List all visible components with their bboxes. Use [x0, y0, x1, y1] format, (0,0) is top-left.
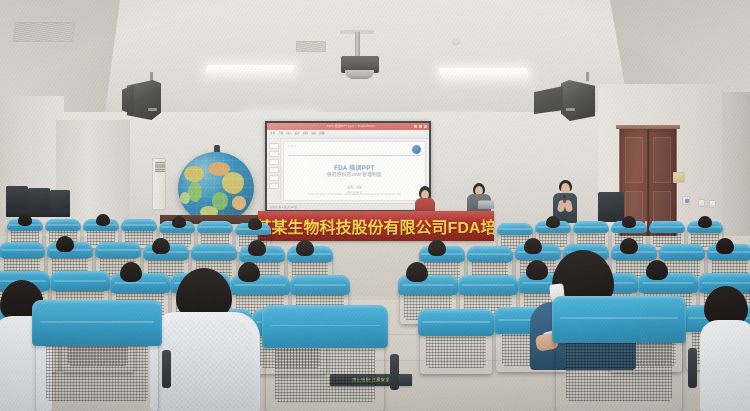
seat-headrest-cover — [0, 242, 45, 258]
hair — [622, 216, 636, 228]
torso — [700, 320, 750, 411]
door-panel — [653, 137, 671, 183]
seat-headrest-cover — [467, 246, 514, 262]
seat-headrest-cover — [552, 296, 686, 343]
seat-headrest-cover — [95, 242, 142, 258]
side-chair — [598, 192, 624, 222]
globe-sphere — [178, 152, 254, 224]
powerpoint-titlebar: FDA 培训PPT.pptx - PowerPoint — [267, 123, 429, 130]
slide-footer: Food and Drug Administration · Drug Mast… — [284, 193, 425, 196]
projector-mount-rod — [355, 32, 360, 58]
conference-room-photo: FDA 培训PPT.pptx - PowerPoint 文件 开始 插入 设计 … — [0, 0, 750, 411]
audience-seat-front — [36, 312, 158, 411]
hair — [296, 240, 314, 256]
ribbon-tab[interactable]: 开始 — [278, 131, 283, 135]
seat-headrest-cover — [290, 275, 349, 295]
hair — [248, 240, 266, 256]
slide-title: FDA 培训PPT — [284, 163, 425, 172]
event-banner: 中国某某生物科技股份有限公司FDA培训会 — [258, 211, 494, 241]
hair — [716, 238, 734, 254]
slide-thumbnail[interactable] — [269, 159, 279, 165]
slide-presenter: 主讲：某某 — [284, 185, 425, 189]
hair — [120, 262, 142, 282]
projection-screen: FDA 培训PPT.pptx - PowerPoint 文件 开始 插入 设计 … — [265, 121, 431, 212]
projector-lens-icon — [345, 70, 374, 79]
speaker-badge — [148, 108, 157, 111]
hair — [406, 262, 428, 282]
slide-thumbnail[interactable] — [269, 167, 279, 173]
wall-speaker-right — [561, 80, 595, 121]
seat-armrest — [688, 348, 697, 388]
slide-thumbnail[interactable] — [269, 151, 279, 157]
laptop-on-table — [478, 200, 495, 208]
speaker-bracket — [150, 72, 153, 81]
seat-headrest-cover — [191, 244, 238, 260]
projected-powerpoint-window: FDA 培训PPT.pptx - PowerPoint 文件 开始 插入 设计 … — [267, 123, 429, 210]
foreground-attendee-right-edge — [700, 286, 750, 411]
control-panel-grill-icon — [155, 162, 165, 172]
seat-headrest-cover — [32, 300, 161, 346]
smoke-detector-icon — [452, 39, 460, 44]
slide-canvas: F D A FDA 培训PPT 兽药原料药DMF管理制度 主讲：某某 2023 … — [283, 141, 426, 201]
seat-headrest-cover — [121, 219, 157, 231]
ribbon-tab[interactable]: 视图 — [319, 131, 324, 135]
audience-seat-front — [266, 316, 384, 411]
globe-axis — [214, 145, 220, 152]
seat-headrest-cover — [418, 309, 494, 336]
slide-corner-label: F D A — [288, 145, 296, 148]
hair — [546, 216, 560, 228]
ribbon-tab[interactable]: 切换 — [303, 131, 308, 135]
seat-headrest-cover — [45, 219, 81, 231]
ribbon-tab-list[interactable]: 文件 开始 插入 设计 切换 动画 视图 — [270, 131, 324, 135]
seat-headrest-cover — [458, 275, 517, 295]
wall-switch[interactable] — [682, 196, 690, 205]
audience-seat — [420, 316, 492, 374]
side-chair-seat — [6, 210, 70, 217]
seat-headrest-cover — [497, 223, 533, 235]
hair — [56, 236, 74, 252]
powerpoint-title-text: FDA 培训PPT.pptx - PowerPoint — [327, 124, 375, 128]
wall-switch[interactable] — [709, 200, 716, 208]
foreground-attendee-white-shirt — [150, 268, 260, 411]
hair — [428, 240, 446, 256]
ceiling-light-panel — [205, 65, 295, 74]
slide-subtitle: 兽药原料药DMF管理制度 — [284, 172, 425, 178]
seat-headrest-cover — [197, 221, 233, 233]
hair — [152, 238, 170, 254]
side-chair — [6, 186, 28, 212]
wall-outlet[interactable] — [673, 172, 685, 183]
banner-sheen — [258, 211, 494, 241]
wall-control-panel[interactable] — [152, 158, 166, 210]
seat-armrest — [390, 354, 399, 390]
hair — [96, 214, 110, 226]
ceiling-light-panel — [439, 68, 529, 78]
wall-switch[interactable] — [698, 199, 705, 207]
company-logo-icon — [412, 145, 421, 154]
ceiling-vent — [296, 41, 326, 52]
hair — [18, 214, 32, 226]
speaker-bracket — [586, 72, 589, 81]
hair — [698, 216, 712, 228]
seat-headrest-cover — [262, 305, 387, 349]
door-panel — [625, 137, 643, 183]
ribbon-tab[interactable]: 设计 — [295, 131, 300, 135]
audience-seat-front — [556, 308, 682, 411]
microphone-icon — [563, 195, 566, 203]
hair — [248, 218, 262, 230]
slide-divider — [288, 155, 421, 156]
ribbon-tab[interactable]: 动画 — [311, 131, 316, 135]
hair — [172, 216, 186, 228]
slide-thumbnail[interactable] — [269, 175, 279, 181]
slide-thumbnail[interactable] — [269, 143, 279, 149]
seat-headrest-cover — [659, 244, 706, 260]
globe-graticule — [178, 152, 254, 224]
wall-column-right — [722, 92, 750, 252]
seat-headrest-cover — [50, 271, 109, 291]
hair — [646, 260, 668, 280]
slide-counter: 幻灯片 第 1 张,共 28 张 — [270, 205, 297, 209]
speaker-badge — [566, 108, 575, 111]
seat-armrest — [162, 350, 171, 388]
seat-headrest-cover — [649, 221, 685, 233]
window-controls[interactable] — [414, 125, 427, 128]
powerpoint-statusbar: 幻灯片 第 1 张,共 28 张 — [267, 203, 429, 210]
powerpoint-ribbon[interactable]: 文件 开始 插入 设计 切换 动画 视图 — [267, 130, 429, 139]
slide-thumbnail[interactable] — [269, 183, 279, 189]
wall-speaker-left-face — [122, 85, 134, 115]
ceiling-vent — [12, 22, 75, 42]
seat-headrest-cover — [573, 221, 609, 233]
ribbon-tab[interactable]: 文件 — [270, 131, 275, 135]
slide-thumbnail-rail[interactable] — [267, 139, 281, 203]
ribbon-tab[interactable]: 插入 — [286, 131, 291, 135]
